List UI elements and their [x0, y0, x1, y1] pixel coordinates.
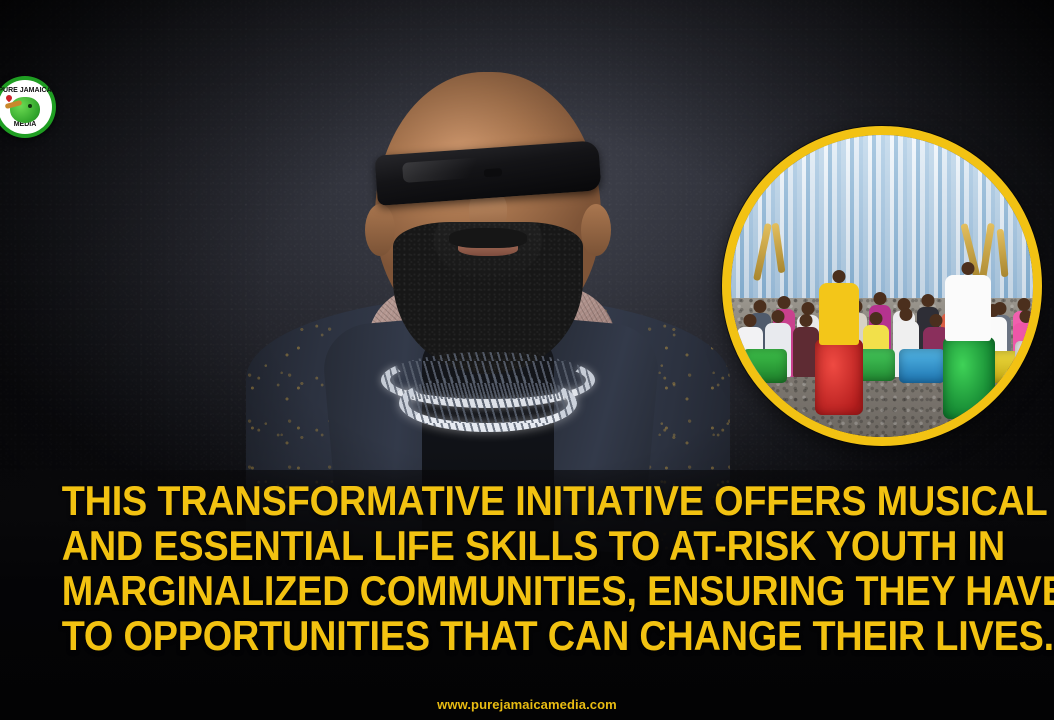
person-front-white [945, 275, 991, 341]
parrot-icon [10, 97, 40, 123]
bass-drum-green [943, 337, 995, 419]
logo-text-top: PURE JAMAICA [0, 87, 52, 94]
headline-line-4: TO OPPORTUNITIES THAT CAN CHANGE THEIR L… [62, 613, 993, 658]
website-url[interactable]: www.purejamaicamedia.com [0, 697, 1054, 712]
horn-icon [772, 222, 786, 272]
inset-photo-circle [722, 126, 1042, 446]
headline-line-2: AND ESSENTIAL LIFE SKILLS TO AT-RISK YOU… [62, 523, 993, 568]
headline-line-1: THIS TRANSFORMATIVE INITIATIVE OFFERS MU… [62, 478, 993, 523]
bass-drum-red [815, 339, 863, 415]
promo-graphic: THIS TRANSFORMATIVE INITIATIVE OFFERS MU… [0, 0, 1054, 720]
horn-icon [997, 228, 1009, 276]
inset-photo-content [731, 135, 1033, 437]
parrot-eye-icon [28, 104, 32, 108]
snare-drum-green [743, 349, 787, 383]
logo-disc: PURE JAMAICA MEDIA [0, 80, 52, 134]
headline-block: THIS TRANSFORMATIVE INITIATIVE OFFERS MU… [0, 478, 1054, 658]
person-front-yellow [819, 283, 859, 345]
snare-drum-blue [899, 349, 945, 383]
headline-line-3: MARGINALIZED COMMUNITIES, ENSURING THEY … [62, 568, 993, 613]
horn-icon [753, 222, 772, 280]
